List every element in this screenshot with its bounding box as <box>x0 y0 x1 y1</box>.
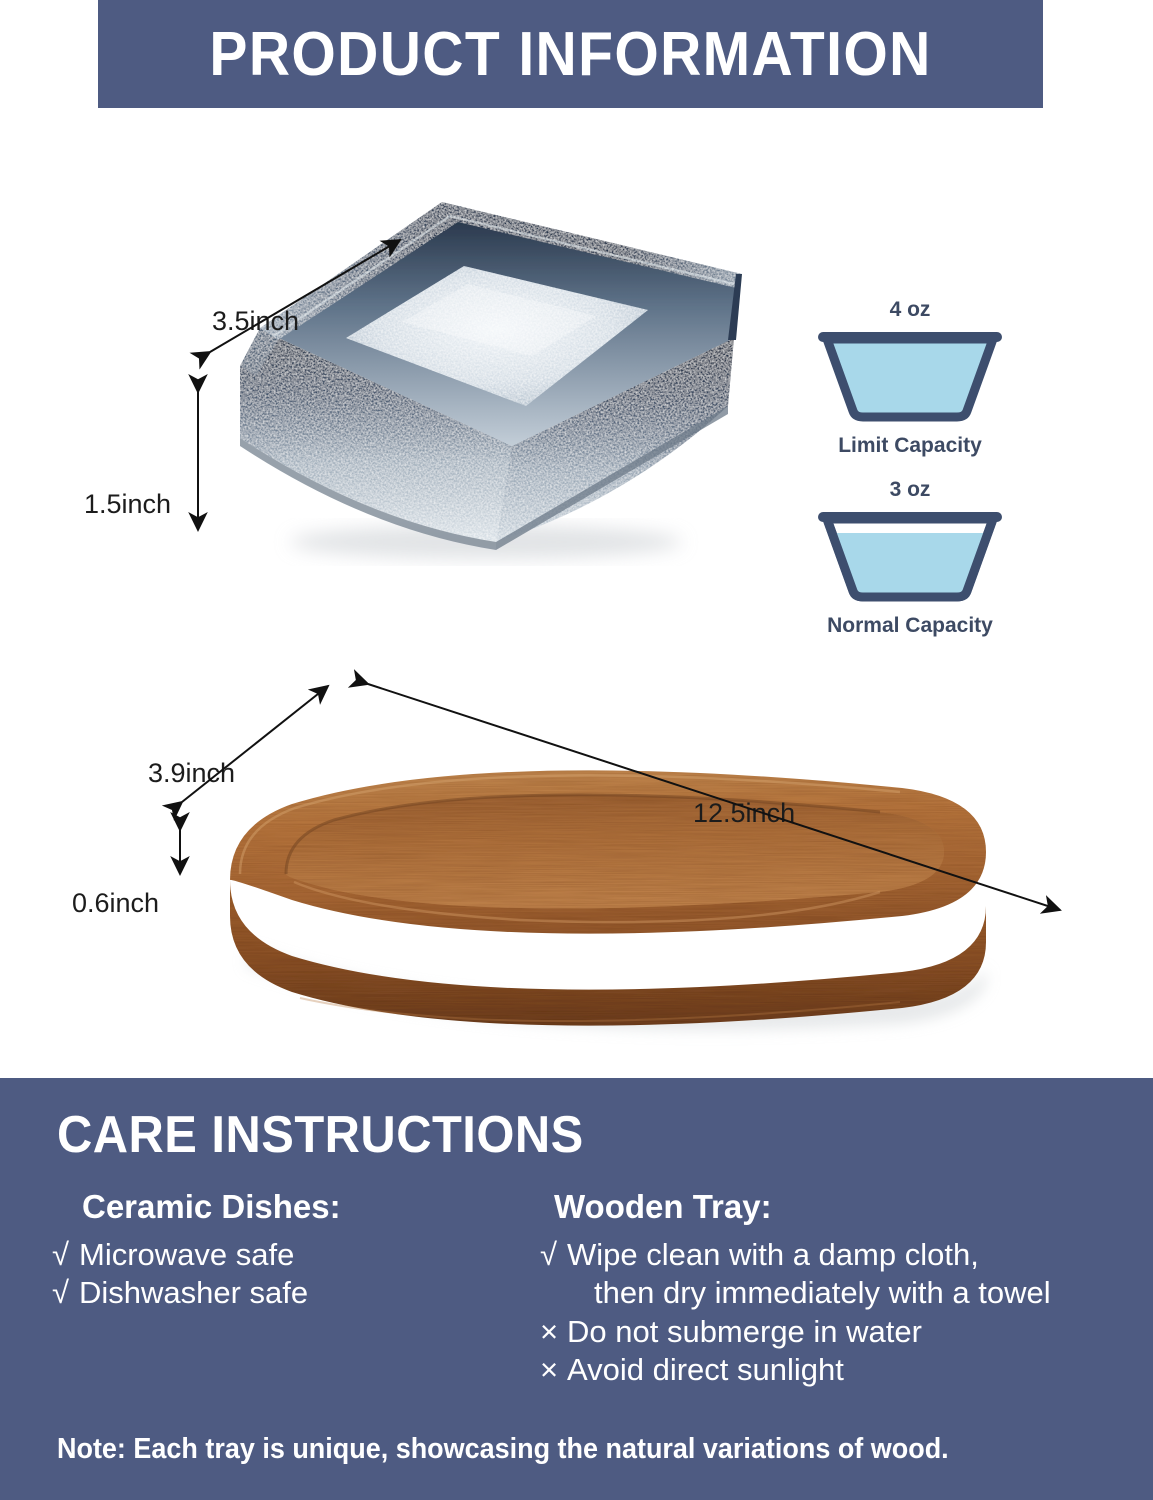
care-item-text: Wipe clean with a damp cloth, <box>567 1237 979 1272</box>
limit-capacity-bowl-icon <box>815 327 1005 427</box>
cross-icon: × <box>540 1351 567 1389</box>
care-item: × Do not submerge in water <box>540 1313 1140 1351</box>
ceramic-care-heading: Ceramic Dishes: <box>52 1188 522 1226</box>
wooden-care-heading: Wooden Tray: <box>540 1188 1140 1226</box>
care-item: √ Microwave safe <box>52 1236 522 1274</box>
page-title: PRODUCT INFORMATION <box>209 19 931 90</box>
tray-length-label: 12.5inch <box>693 798 795 829</box>
care-item-text-block: Wipe clean with a damp cloth, then dry i… <box>567 1236 1051 1313</box>
care-note: Note: Each tray is unique, showcasing th… <box>57 1433 949 1466</box>
ceramic-care-column: Ceramic Dishes: √ Microwave safe √ Dishw… <box>52 1188 522 1313</box>
care-item-text: Do not submerge in water <box>567 1313 922 1351</box>
ceramic-bowl-graphic <box>196 170 756 570</box>
check-icon: √ <box>52 1236 79 1274</box>
capacity-limit-group: 4 oz Limit Capacity <box>815 298 1005 458</box>
care-instructions-panel: CARE INSTRUCTIONS Ceramic Dishes: √ Micr… <box>0 1078 1153 1500</box>
cross-icon: × <box>540 1313 567 1351</box>
care-item: √ Wipe clean with a damp cloth, then dry… <box>540 1236 1140 1313</box>
capacity-limit-label: Limit Capacity <box>815 434 1005 458</box>
check-icon: √ <box>540 1236 567 1274</box>
capacity-normal-label: Normal Capacity <box>815 614 1005 638</box>
ceramic-bowl-image <box>196 170 756 570</box>
wooden-tray-image <box>180 698 1070 1098</box>
bowl-height-label: 1.5inch <box>84 489 171 520</box>
wooden-care-column: Wooden Tray: √ Wipe clean with a damp cl… <box>540 1188 1140 1390</box>
care-instructions-title: CARE INSTRUCTIONS <box>57 1105 584 1165</box>
tray-depth-label: 3.9inch <box>148 758 235 789</box>
care-item: × Avoid direct sunlight <box>540 1351 1140 1389</box>
care-item-text: Avoid direct sunlight <box>567 1351 844 1389</box>
product-illustration-area: 3.5inch 1.5inch 3.9inch 0.6inch 12.5inch… <box>0 108 1153 1078</box>
bowl-width-label: 3.5inch <box>212 306 299 337</box>
capacity-normal-group: 3 oz Normal Capacity <box>815 478 1005 638</box>
care-item-text-continued: then dry immediately with a towel <box>567 1274 1051 1312</box>
care-item-text: Microwave safe <box>79 1236 294 1274</box>
capacity-limit-amount: 4 oz <box>815 298 1005 322</box>
tray-thickness-label: 0.6inch <box>72 888 159 919</box>
care-item: √ Dishwasher safe <box>52 1274 522 1312</box>
capacity-normal-amount: 3 oz <box>815 478 1005 502</box>
check-icon: √ <box>52 1274 79 1312</box>
normal-capacity-bowl-icon <box>815 507 1005 607</box>
wooden-tray-graphic <box>180 698 1070 1098</box>
care-item-text: Dishwasher safe <box>79 1274 308 1312</box>
product-information-banner: PRODUCT INFORMATION <box>98 0 1043 108</box>
